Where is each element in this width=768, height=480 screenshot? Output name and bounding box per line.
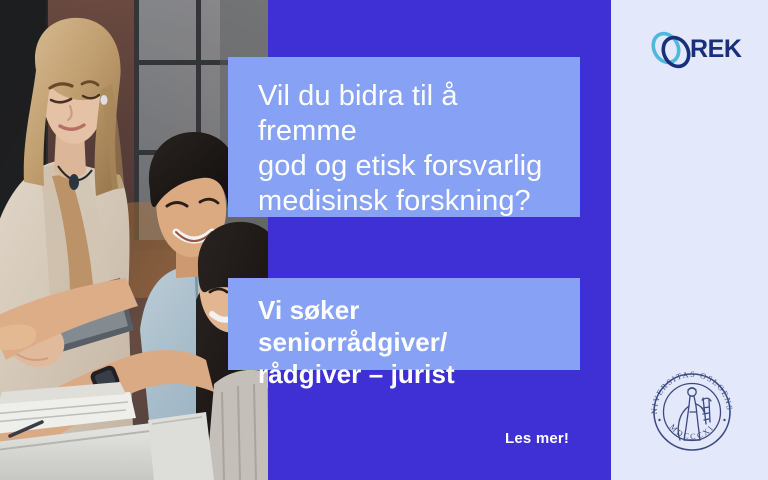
- uio-seal: UNIVERSITAS OSLOENSIS MDCCCXI: [646, 366, 738, 458]
- rek-logo[interactable]: REK: [650, 28, 742, 72]
- job-advert-banner: Vil du bidra til å fremme god og etisk f…: [0, 0, 768, 480]
- question-copy-box: Vil du bidra til å fremme god og etisk f…: [228, 57, 580, 217]
- rek-interlocking-rings-icon: [650, 29, 694, 71]
- svg-text:UNIVERSITAS OSLOENSIS: UNIVERSITAS OSLOENSIS: [646, 366, 734, 414]
- rek-wordmark: REK: [690, 35, 742, 64]
- role-text: Vi søker seniorrådgiver/ rådgiver – juri…: [258, 294, 556, 390]
- headline-text: Vil du bidra til å fremme god og etisk f…: [258, 79, 556, 219]
- role-copy-box: Vi søker seniorrådgiver/ rådgiver – juri…: [228, 278, 580, 370]
- read-more-link[interactable]: Les mer!: [505, 430, 569, 447]
- svg-text:MDCCCXI: MDCCCXI: [668, 422, 716, 441]
